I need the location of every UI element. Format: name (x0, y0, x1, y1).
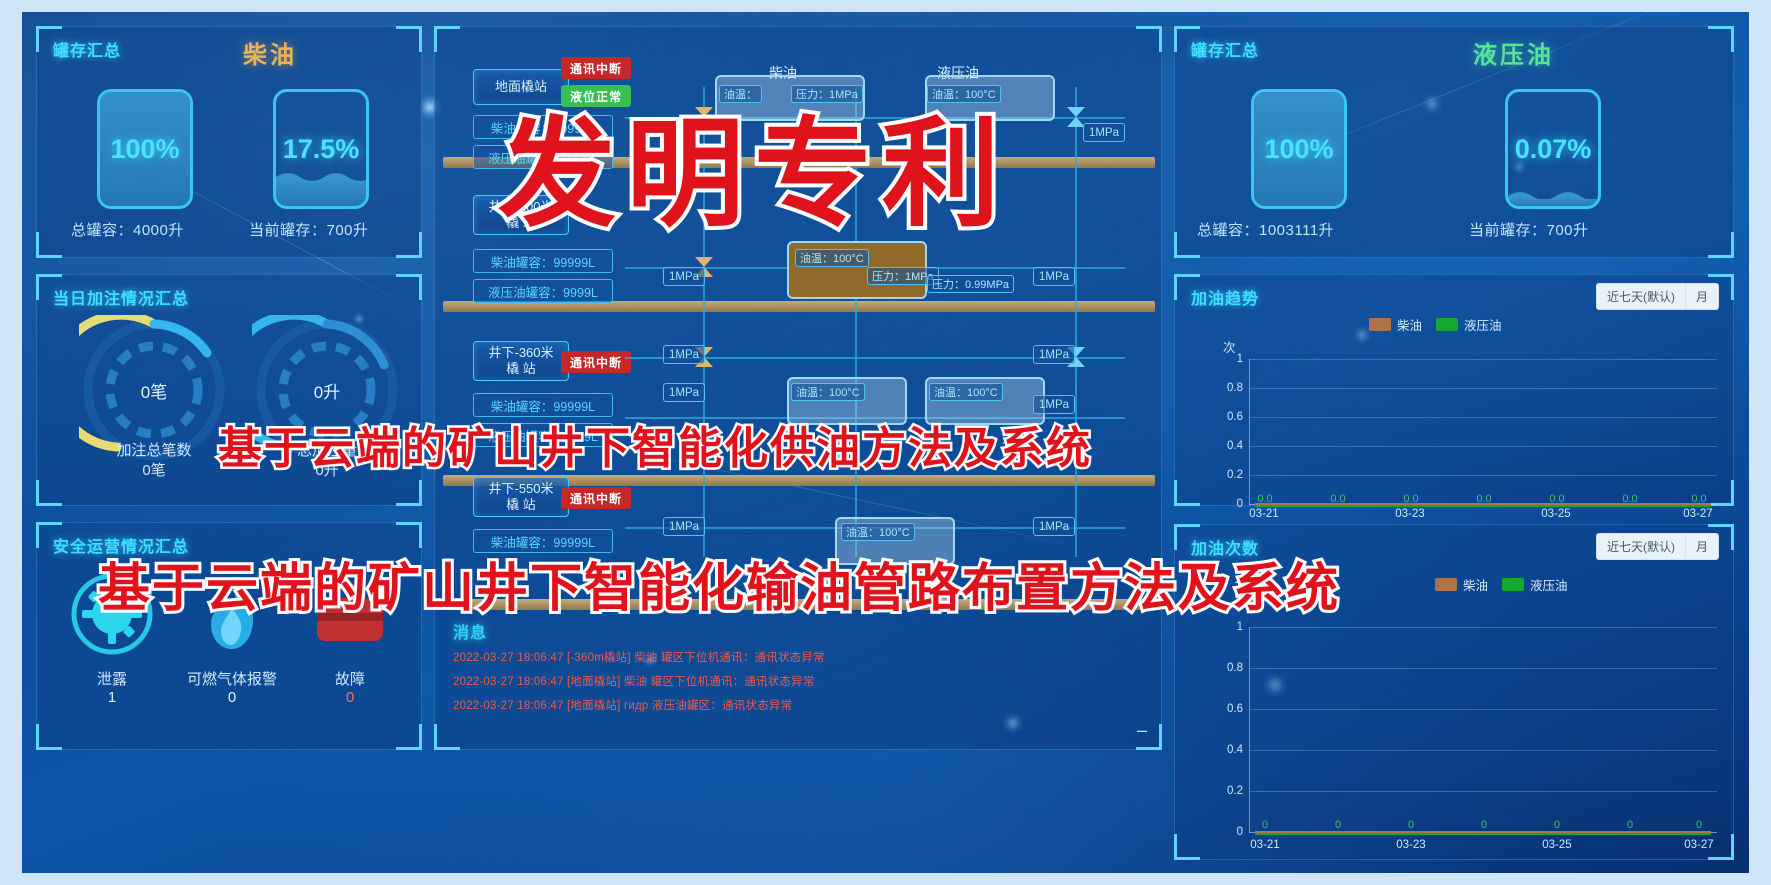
right-tank-total-caption: 总罐容：1003111升 (1197, 219, 1334, 240)
pressure-tag: 1MPa (1033, 267, 1075, 286)
left-tank-total[interactable]: 100% (97, 89, 193, 209)
corner-decor (434, 724, 460, 750)
station-box-550m[interactable]: 井下-550米 橇 站 (473, 477, 569, 517)
right-tank-summary-panel: 罐存汇总 液压油 100% 总罐容：1003111升 0.07% 当前罐存：70… (1174, 26, 1734, 258)
refuel-volume-label: 总加注量 0升 (252, 441, 402, 481)
y-tick-label: 0.2 (1217, 785, 1243, 797)
x-tick-label: 03-21 (1249, 508, 1278, 520)
data-point-label: 0.0 (1691, 493, 1706, 505)
toolbox-icon (307, 571, 393, 657)
meter-readout: 油温：100°C (791, 383, 865, 401)
pressure-tag: 1MPa (663, 345, 705, 364)
station-capacity-diesel-200m: 柴油罐容：99999L (473, 249, 613, 273)
x-tick-label: 03-27 (1683, 508, 1712, 520)
pipe-segment (855, 87, 857, 557)
left-tank-current-caption: 当前罐存：700升 (249, 219, 369, 240)
meter-readout: 油温：100°C (929, 383, 1003, 401)
screen-canvas: 罐存汇总 柴油 100% 总罐容：4000升 17.5% 当前罐存：700升 (22, 12, 1749, 873)
data-point-label: 0 (1335, 819, 1341, 831)
station-badge-level-surface[interactable]: 液位正常 (561, 85, 631, 107)
data-point-label: 0.0 (1549, 493, 1564, 505)
flame-icon (189, 571, 275, 657)
refuel-count-panel: 加油次数 近七天(默认) 月 柴油 液压油 (1174, 524, 1734, 860)
valve-icon[interactable] (693, 105, 715, 129)
corner-decor (396, 724, 422, 750)
y-tick-label: 0.6 (1217, 703, 1243, 715)
safety-label-fault: 故障 (275, 668, 425, 689)
y-tick-label: 0.4 (1217, 440, 1243, 452)
corner-decor (396, 480, 422, 506)
y-tick-label: 1 (1217, 621, 1243, 633)
minimize-button[interactable]: – (1137, 720, 1147, 741)
x-tick-label: 03-21 (1250, 839, 1279, 851)
x-tick-label: 03-25 (1541, 508, 1570, 520)
left-tank-total-caption: 总罐容：4000升 (71, 219, 184, 240)
meter-readout: 油温：100°C (841, 523, 915, 541)
dashboard-root: 罐存汇总 柴油 100% 总罐容：4000升 17.5% 当前罐存：700升 (0, 0, 1771, 885)
meter-readout: 油温：100°C (795, 249, 869, 267)
x-tick-label: 03-23 (1396, 839, 1425, 851)
data-point-label: 0 (1554, 819, 1560, 831)
x-tick-label: 03-23 (1395, 508, 1424, 520)
data-point-label: 0.0 (1330, 493, 1345, 505)
safety-item-fault[interactable]: 故障 0 (275, 571, 425, 706)
pipe-segment (703, 87, 705, 557)
pressure-tag: 1MPa (663, 383, 705, 402)
safety-value-fault: 0 (275, 689, 425, 706)
corner-decor (1136, 26, 1162, 52)
station-box-200m[interactable]: 井下-200米 橇 站 (473, 195, 569, 235)
corner-decor (396, 522, 422, 548)
data-point-label: 0 (1262, 819, 1268, 831)
left-safety-summary-panel: 安全运营情况汇总 泄露 1 (36, 522, 422, 750)
corner-decor (1708, 232, 1734, 258)
refuel-volume-label-line2: 0升 (252, 461, 402, 481)
station-badge-comm-550m[interactable]: 通讯中断 (561, 487, 631, 509)
station-capacity-hydraulic-360m: 液压油罐容：9999L (473, 423, 613, 447)
y-tick-label: 0 (1217, 826, 1243, 838)
gridline (1249, 709, 1717, 710)
y-tick-label: 0.4 (1217, 744, 1243, 756)
right-tank-current-caption: 当前罐存：700升 (1469, 219, 1589, 240)
right-tank-total[interactable]: 100% (1251, 89, 1347, 209)
message-log-line: 2022-03-27 18:06:47 [-360m橇站] 柴油 罐区下位机通讯… (453, 649, 1143, 665)
count-plot-area: 1 0.8 0.6 0.4 0.2 0 0 0 0 0 0 0 0 03-21 … (1175, 525, 1733, 859)
corner-decor (36, 480, 62, 506)
left-tank-summary-panel: 罐存汇总 柴油 100% 总罐容：4000升 17.5% 当前罐存：700升 (36, 26, 422, 258)
left-refuel-summary-panel: 当日加注情况汇总 0笔 加注总笔数 0笔 (36, 274, 422, 506)
data-point-label: 0.0 (1476, 493, 1491, 505)
level-deck-bar (443, 599, 1155, 610)
pressure-tag: 1MPa (1033, 517, 1075, 536)
panel-title-right-tank: 罐存汇总 (1191, 37, 1259, 61)
station-capacity-diesel-550m: 柴油罐容：99999L (473, 529, 613, 553)
station-capacity-diesel-360m: 柴油罐容：99999L (473, 393, 613, 417)
left-tank-current[interactable]: 17.5% (273, 89, 369, 209)
corner-decor (36, 232, 62, 258)
gridline (1249, 446, 1717, 447)
meter-readout: 油温： (719, 85, 762, 103)
refuel-count-label-line1: 加注总笔数 (79, 441, 229, 461)
refuel-count-label: 加注总笔数 0笔 (79, 441, 229, 481)
station-badge-comm-360m[interactable]: 通讯中断 (561, 351, 631, 373)
data-point-label: 0.0 (1403, 493, 1418, 505)
gridline (1249, 668, 1717, 669)
panel-title-left-tank: 罐存汇总 (53, 37, 121, 61)
x-tick-label: 03-27 (1684, 839, 1713, 851)
station-badge-comm-surface[interactable]: 通讯中断 (561, 57, 631, 79)
y-tick-label: 0 (1217, 498, 1243, 510)
meter-readout: 压力：1MPa (791, 85, 863, 103)
data-point-label: 0 (1696, 819, 1702, 831)
data-point-label: 0 (1408, 819, 1414, 831)
panel-title-messages: 消息 (453, 619, 487, 643)
message-log-line: 2022-03-27 18:06:47 [地面橇站] гидр 液压油罐区：通讯… (453, 697, 1143, 713)
pressure-tag: 1MPa (663, 267, 705, 286)
gridline (1249, 475, 1717, 476)
center-schematic-panel: 柴油 液压油 地面橇站 通讯中断 液位正常 柴油罐容：99999L 液压油罐容：… (434, 26, 1162, 750)
pressure-tag: 1MPa (1033, 395, 1075, 414)
pipe-segment (1075, 87, 1077, 557)
y-tick-label: 0.2 (1217, 469, 1243, 481)
station-box-360m[interactable]: 井下-360米 橇 站 (473, 341, 569, 381)
corner-decor (1708, 26, 1734, 52)
x-tick-label: 03-25 (1542, 839, 1571, 851)
series-line-hydraulic (1255, 833, 1711, 835)
y-tick-label: 0.8 (1217, 382, 1243, 394)
pressure-tag: 1MPa (663, 517, 705, 536)
gridline (1249, 627, 1717, 628)
refuel-trend-panel: 加油趋势 近七天(默认) 月 柴油 液压油 次 (1174, 274, 1734, 506)
pressure-tag: 1MPa (1083, 123, 1125, 142)
meter-readout: 压力：0.99MPa (927, 275, 1014, 293)
corner-decor (36, 724, 62, 750)
corner-decor (396, 274, 422, 300)
panel-title-refuel: 当日加注情况汇总 (53, 285, 189, 309)
corner-decor (434, 26, 460, 52)
data-point-label: 0 (1481, 819, 1487, 831)
gridline (1249, 417, 1717, 418)
refuel-count-label-line2: 0笔 (79, 461, 229, 481)
series-line-hydraulic (1255, 505, 1711, 507)
y-tick-label: 0.8 (1217, 662, 1243, 674)
y-tick-label: 1 (1217, 353, 1243, 365)
y-axis-line (1249, 359, 1250, 505)
right-tank-kind-label: 液压油 (1473, 35, 1554, 70)
y-tick-label: 0.6 (1217, 411, 1243, 423)
right-tank-current[interactable]: 0.07% (1505, 89, 1601, 209)
gridline (1249, 791, 1717, 792)
station-capacity-diesel-surface: 柴油罐容：99999L (473, 115, 613, 139)
pressure-tag: 1MPa (1033, 345, 1075, 364)
refuel-volume-label-line1: 总加注量 (252, 441, 402, 461)
gridline (1249, 359, 1717, 360)
station-capacity-hydraulic-surface: 液压油罐容：9999L (473, 145, 613, 169)
data-point-label: 0.0 (1257, 493, 1272, 505)
tank-percent-label: 17.5% (276, 92, 366, 206)
data-point-label: 0.0 (1622, 493, 1637, 505)
leak-gear-icon (69, 571, 155, 657)
panel-title-safety: 安全运营情况汇总 (53, 533, 189, 557)
left-tank-kind-label: 柴油 (243, 35, 297, 70)
message-log[interactable]: 2022-03-27 18:06:47 [-360m橇站] 柴油 罐区下位机通讯… (453, 649, 1143, 721)
corner-decor (396, 26, 422, 52)
station-box-surface[interactable]: 地面橇站 (473, 69, 569, 105)
corner-decor (396, 232, 422, 258)
gridline (1249, 750, 1717, 751)
gridline (1249, 388, 1717, 389)
tank-percent-label: 100% (1254, 92, 1344, 206)
trend-plot-area: 1 0.8 0.6 0.4 0.2 0 0.0 0.0 0.0 0.0 0.0 … (1175, 275, 1733, 505)
meter-readout: 油温：100°C (927, 85, 1001, 103)
y-axis-line (1249, 627, 1250, 833)
station-capacity-hydraulic-200m: 液压油罐容：9999L (473, 279, 613, 303)
tank-percent-label: 0.07% (1508, 92, 1598, 206)
message-log-line: 2022-03-27 18:06:47 [地面橇站] 柴油 罐区下位机通讯：通讯… (453, 673, 1143, 689)
data-point-label: 0 (1627, 819, 1633, 831)
tank-percent-label: 100% (100, 92, 190, 206)
